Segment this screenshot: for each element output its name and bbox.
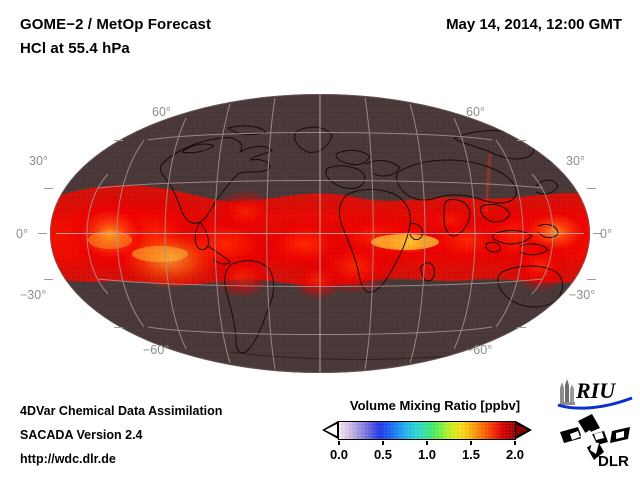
- lat-tick-30n-r: [587, 188, 596, 189]
- colorbar-tick-1: [382, 441, 384, 445]
- colorbar-gradient: [338, 421, 516, 440]
- colorbar-label-1: 0.5: [363, 447, 403, 462]
- version-line: SACADA Version 2.4: [20, 428, 143, 442]
- lat-label-30s-right: −30°: [569, 288, 595, 302]
- mollweide-globe: [50, 94, 590, 373]
- colorbar-label-4: 2.0: [495, 447, 535, 462]
- map-panel: [50, 94, 590, 373]
- graticule: [50, 94, 590, 373]
- colorbar-title: Volume Mixing Ratio [ppbv]: [330, 398, 540, 413]
- lat-label-60n-left: 60°: [152, 105, 171, 119]
- lat-tick-0: [38, 233, 47, 234]
- method-line: 4DVar Chemical Data Assimilation: [20, 404, 222, 418]
- lat-label-0-left: 0°: [16, 227, 28, 241]
- species-subtitle: HCl at 55.4 hPa: [20, 40, 130, 57]
- lat-label-60s-left: −60°: [143, 343, 169, 357]
- page-title: GOME−2 / MetOp Forecast: [20, 16, 211, 33]
- colorbar-tick-4: [514, 441, 516, 445]
- lat-label-30n-left: 30°: [29, 154, 48, 168]
- lat-label-30n-right: 30°: [566, 154, 585, 168]
- colorbar: [316, 420, 538, 442]
- lat-label-30s-left: −30°: [20, 288, 46, 302]
- colorbar-tick-0: [338, 441, 340, 445]
- timestamp: May 14, 2014, 12:00 GMT: [446, 16, 622, 33]
- lat-tick-60s: [114, 327, 123, 328]
- colorbar-over-fill: [516, 424, 528, 436]
- lat-tick-60s-r: [517, 327, 526, 328]
- riu-logo: RIU: [552, 376, 636, 410]
- colorbar-dither: [339, 422, 515, 439]
- lat-tick-30s: [44, 279, 53, 280]
- lat-label-0-right: 0°: [600, 227, 612, 241]
- colorbar-tick-2: [426, 441, 428, 445]
- dlr-logo: DLR: [556, 412, 636, 470]
- lat-tick-60n: [114, 140, 123, 141]
- colorbar-label-3: 1.5: [451, 447, 491, 462]
- url-line[interactable]: http://wdc.dlr.de: [20, 452, 116, 466]
- lat-tick-30s-r: [587, 279, 596, 280]
- riu-wordmark: RIU: [575, 378, 616, 403]
- figure-root: GOME−2 / MetOp Forecast HCl at 55.4 hPa …: [0, 0, 640, 480]
- dlr-wordmark: DLR: [598, 453, 629, 470]
- lat-tick-30n: [44, 188, 53, 189]
- colorbar-label-2: 1.0: [407, 447, 447, 462]
- lat-label-60s-right: −60°: [466, 343, 492, 357]
- colorbar-under-fill: [325, 424, 337, 436]
- colorbar-label-0: 0.0: [319, 447, 359, 462]
- lat-label-60n-right: 60°: [466, 105, 485, 119]
- colorbar-tick-3: [470, 441, 472, 445]
- lat-tick-60n-r: [517, 140, 526, 141]
- riu-tower-icon: [560, 379, 575, 405]
